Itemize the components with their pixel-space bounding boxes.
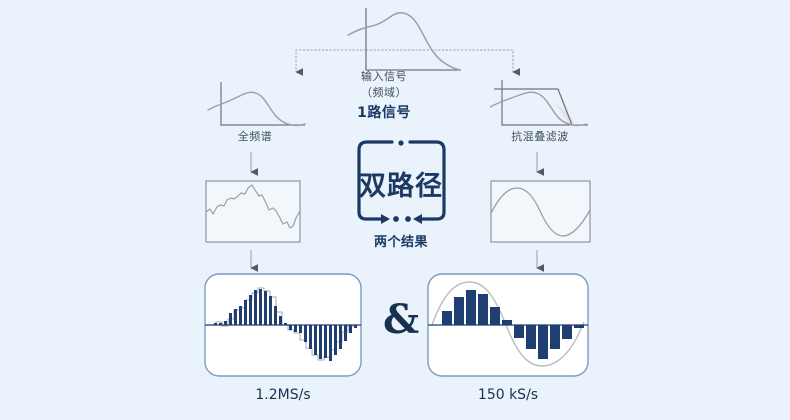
anti-alias-filter-chart [490,80,588,125]
filtered-sine-waveform-panel [491,181,590,242]
fft-bar-spectrum-fast-card [205,274,361,376]
wideband-time-waveform-panel [206,181,300,242]
input-signal-caption: 1路信号 [341,102,427,122]
input-signal-label-line1: 输入信号 [341,68,427,84]
input-signal-label-line2: （频域） [341,84,427,100]
diagram-canvas: 输入信号 （频域） 1路信号 全频谱 抗混叠滤波 双路径 两个结果 & 1.2M… [0,0,790,420]
fft-bar-spectrum-slow-card [428,274,588,376]
dual-path-badge-label: 双路径 [355,164,447,203]
branch-label-full-spectrum: 全频谱 [212,128,298,144]
sample-rate-left: 1.2MS/s [213,387,353,403]
full-spectrum-chart [208,82,305,125]
diagram-vector-layer [0,0,790,420]
dual-path-result-caption: 两个结果 [355,231,447,250]
branch-label-anti-alias-filter: 抗混叠滤波 [492,128,588,144]
sample-rate-right: 150 kS/s [438,387,578,403]
stage-arrows-row2 [251,250,537,268]
conjunction-ampersand: & [383,300,419,340]
input-signal-chart [348,8,461,70]
